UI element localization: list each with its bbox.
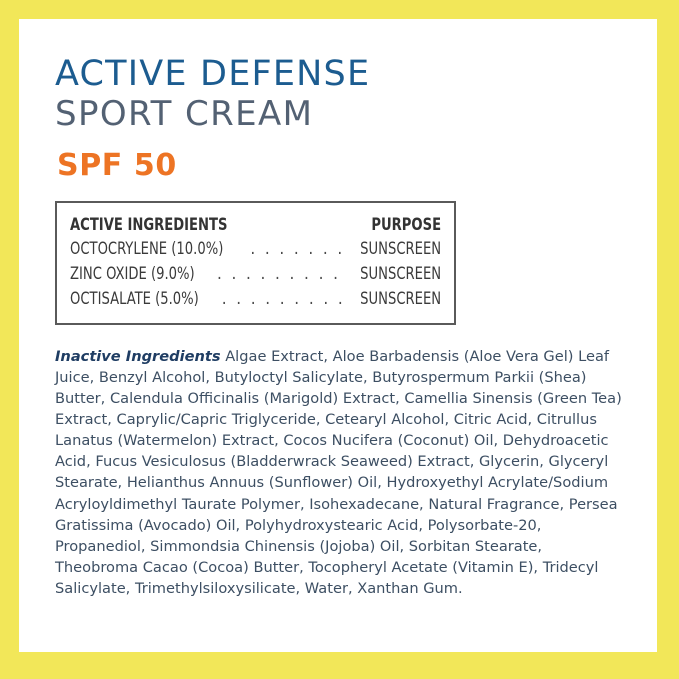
active-ingredient-purpose: SUNSCREEN	[360, 262, 441, 287]
table-row: OCTOCRYLENE (10.0%) SUNSCREEN	[70, 237, 441, 262]
product-label-card: ACTIVE DEFENSE SPORT CREAM SPF 50 ACTIVE…	[0, 0, 679, 679]
active-ingredient-name: OCTOCRYLENE (10.0%)	[70, 237, 223, 262]
column-header-purpose: PURPOSE	[371, 213, 441, 238]
leader-dots	[222, 287, 345, 312]
table-row: ZINC OXIDE (9.0%) SUNSCREEN	[70, 262, 441, 287]
leader-dots	[250, 237, 345, 262]
leader-dots	[217, 262, 345, 287]
title-block: ACTIVE DEFENSE SPORT CREAM SPF 50	[55, 55, 621, 181]
inactive-ingredients-label: Inactive Ingredients	[55, 348, 221, 365]
active-ingredient-name: ZINC OXIDE (9.0%)	[70, 262, 195, 287]
spf-rating: SPF 50	[57, 151, 621, 181]
active-ingredient-purpose: SUNSCREEN	[360, 287, 441, 312]
label-inner-panel: ACTIVE DEFENSE SPORT CREAM SPF 50 ACTIVE…	[19, 19, 657, 652]
column-header-active-ingredients: ACTIVE INGREDIENTS	[70, 213, 228, 238]
table-header-row: ACTIVE INGREDIENTS PURPOSE	[70, 213, 441, 238]
product-subtitle: SPORT CREAM	[55, 94, 621, 135]
active-ingredient-purpose: SUNSCREEN	[360, 237, 441, 262]
inactive-ingredients-text: Algae Extract, Aloe Barbadensis (Aloe Ve…	[55, 348, 622, 597]
table-row: OCTISALATE (5.0%) SUNSCREEN	[70, 287, 441, 312]
active-ingredients-table: ACTIVE INGREDIENTS PURPOSE OCTOCRYLENE (…	[55, 201, 456, 325]
active-ingredient-name: OCTISALATE (5.0%)	[70, 287, 199, 312]
product-title: ACTIVE DEFENSE	[55, 55, 621, 94]
inactive-ingredients-paragraph: Inactive Ingredients Algae Extract, Aloe…	[55, 346, 623, 599]
